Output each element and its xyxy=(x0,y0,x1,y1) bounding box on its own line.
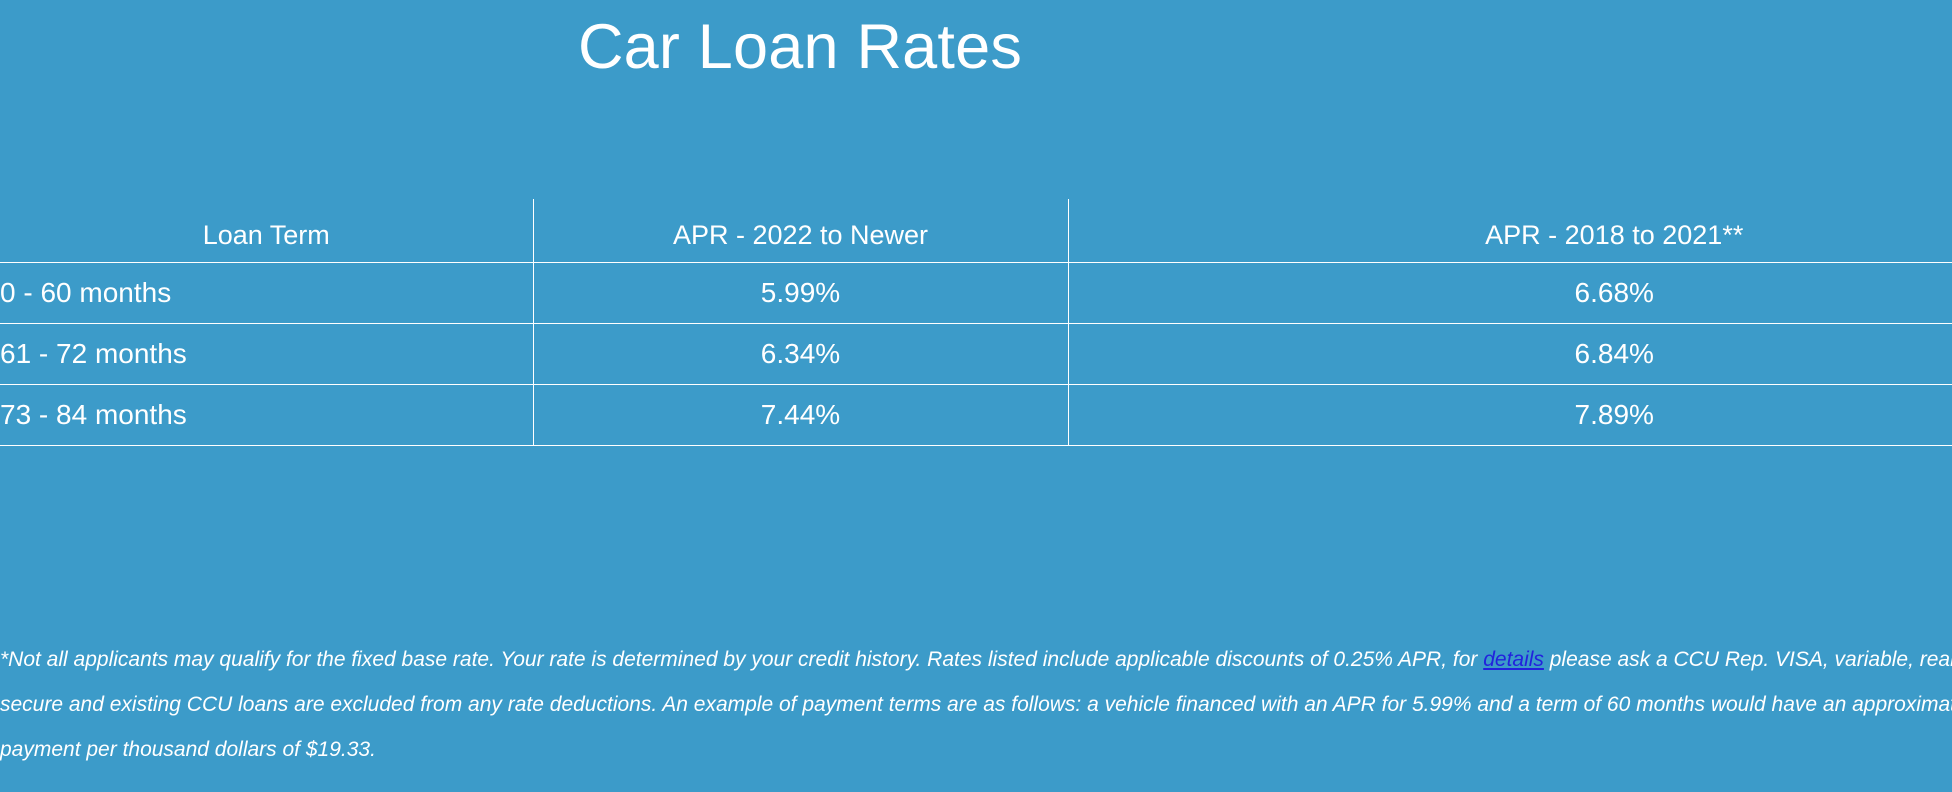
page-title: Car Loan Rates xyxy=(0,8,1600,87)
column-header-apr-2018-2021: APR - 2018 to 2021** xyxy=(1068,199,1952,262)
rates-table-container: Loan Term APR - 2022 to Newer APR - 2018… xyxy=(0,199,1952,446)
cell-loan-term: 73 - 84 months xyxy=(0,384,533,445)
details-link[interactable]: details xyxy=(1483,648,1544,671)
table-row: 61 - 72 months 6.34% 6.84% xyxy=(0,323,1952,384)
disclaimer-text-before-link: *Not all applicants may qualify for the … xyxy=(0,648,1483,671)
column-header-apr-2022-newer: APR - 2022 to Newer xyxy=(533,199,1068,262)
cell-apr-2022-newer: 6.34% xyxy=(533,323,1068,384)
cell-loan-term: 0 - 60 months xyxy=(0,262,533,323)
cell-apr-2018-2021: 7.89% xyxy=(1068,384,1952,445)
cell-apr-2018-2021: 6.68% xyxy=(1068,262,1952,323)
page-header: Car Loan Rates xyxy=(0,0,1600,87)
table-row: 73 - 84 months 7.44% 7.89% xyxy=(0,384,1952,445)
table-header-row: Loan Term APR - 2022 to Newer APR - 2018… xyxy=(0,199,1952,262)
cell-apr-2022-newer: 7.44% xyxy=(533,384,1068,445)
cell-loan-term: 61 - 72 months xyxy=(0,323,533,384)
cell-apr-2018-2021: 6.84% xyxy=(1068,323,1952,384)
table-row: 0 - 60 months 5.99% 6.68% xyxy=(0,262,1952,323)
table-body: 0 - 60 months 5.99% 6.68% 61 - 72 months… xyxy=(0,262,1952,445)
rates-disclaimer: *Not all applicants may qualify for the … xyxy=(0,637,1952,772)
table-head: Loan Term APR - 2022 to Newer APR - 2018… xyxy=(0,199,1952,262)
page-root: Car Loan Rates Loan Term APR - 2022 to N… xyxy=(0,0,1952,792)
column-header-loan-term: Loan Term xyxy=(0,199,533,262)
cell-apr-2022-newer: 5.99% xyxy=(533,262,1068,323)
car-loan-rates-table: Loan Term APR - 2022 to Newer APR - 2018… xyxy=(0,199,1952,446)
